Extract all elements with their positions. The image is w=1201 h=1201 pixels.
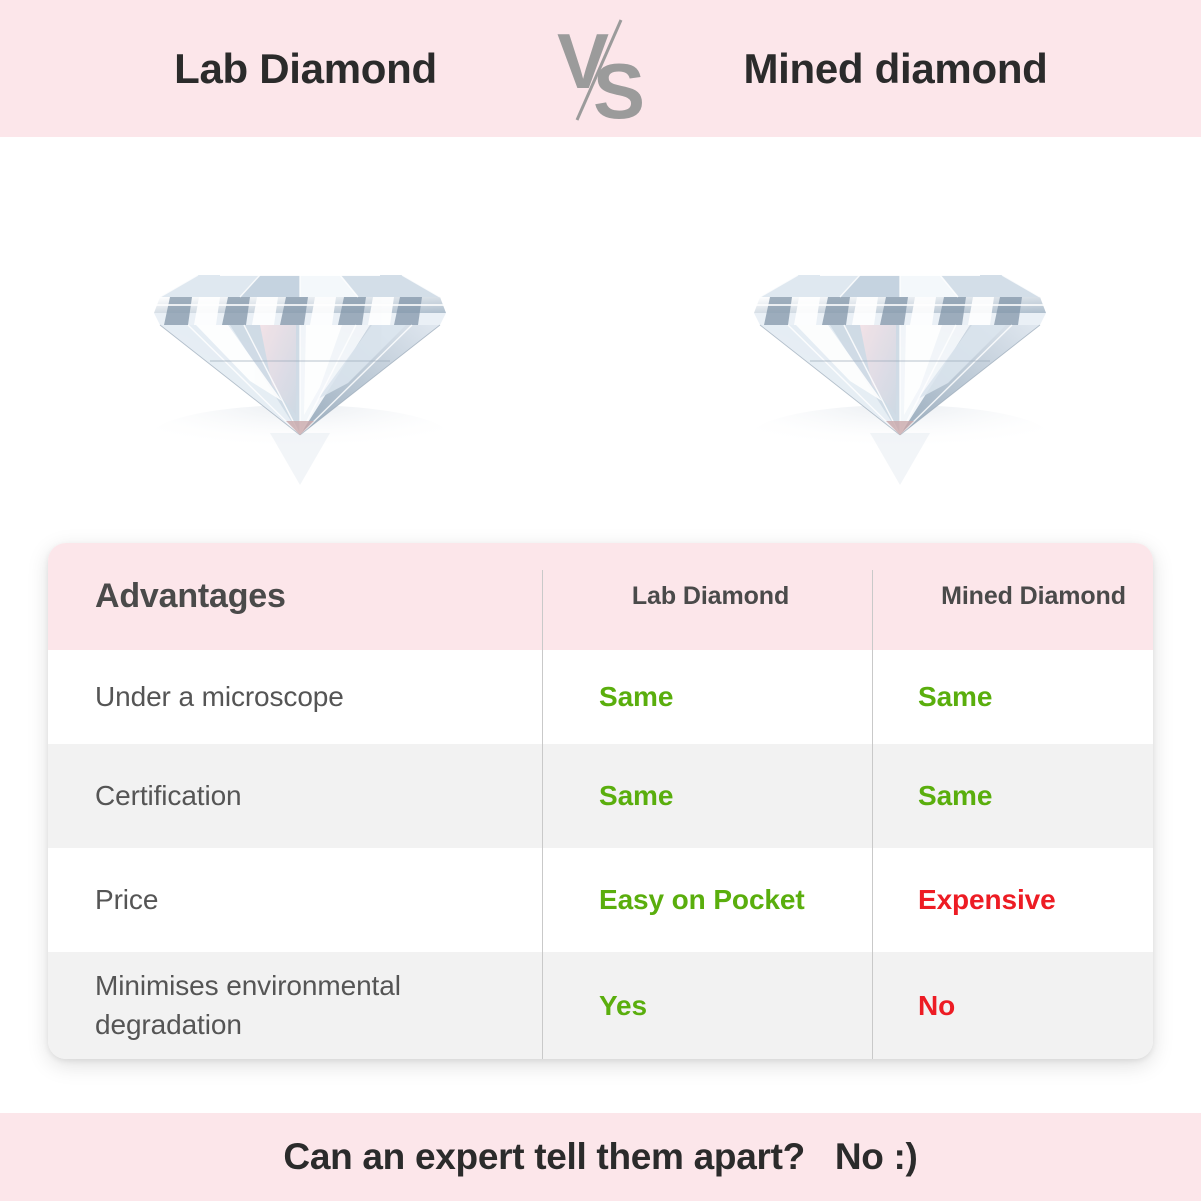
row-value-lab-cell: Easy on Pocket: [542, 848, 872, 952]
table-row: Minimises environmental degradation Yes …: [48, 952, 1153, 1059]
column-divider-1: [542, 650, 543, 744]
column-divider-1: [542, 952, 543, 1059]
column-divider-1: [542, 744, 543, 848]
header-band: Lab Diamond V S Mined diamond: [0, 0, 1201, 137]
row-value-mined: No: [918, 990, 955, 1022]
row-value-lab: Same: [599, 681, 673, 713]
row-label-cell: Price: [48, 848, 542, 952]
row-label-cell: Minimises environmental degradation: [48, 952, 542, 1059]
column-divider-2: [872, 570, 873, 650]
row-value-mined: Same: [918, 780, 992, 812]
row-value-mined: Same: [918, 681, 992, 713]
column-divider-2: [872, 952, 873, 1059]
row-label-cell: Under a microscope: [48, 650, 542, 744]
comparison-infographic: Lab Diamond V S Mined diamond: [0, 0, 1201, 1201]
header-cell-advantages: Advantages: [48, 577, 542, 616]
table-row: Price Easy on Pocket Expensive: [48, 848, 1153, 952]
row-value-mined-cell: No: [872, 952, 1153, 1059]
column-divider-2: [872, 650, 873, 744]
header-inner: Lab Diamond V S Mined diamond: [0, 14, 1201, 124]
footer-band: Can an expert tell them apart? No :): [0, 1113, 1201, 1201]
column-divider-2: [872, 744, 873, 848]
column-header-advantages: Advantages: [95, 577, 286, 616]
row-label: Price: [95, 881, 158, 920]
row-value-lab-cell: Same: [542, 744, 872, 848]
header-cell-lab: Lab Diamond: [542, 582, 872, 611]
row-value-mined-cell: Same: [872, 650, 1153, 744]
diamond-image-mined: [600, 137, 1200, 532]
row-value-mined: Expensive: [918, 884, 1056, 916]
table-row: Certification Same Same: [48, 744, 1153, 848]
row-label-cell: Certification: [48, 744, 542, 848]
header-title-lab: Lab Diamond: [71, 45, 541, 93]
table-row: Under a microscope Same Same: [48, 650, 1153, 744]
header-title-mined: Mined diamond: [661, 45, 1131, 93]
row-value-mined-cell: Expensive: [872, 848, 1153, 952]
vs-icon: V S: [541, 14, 661, 124]
diamond-images-row: [0, 137, 1201, 532]
svg-text:S: S: [593, 47, 645, 124]
row-value-mined-cell: Same: [872, 744, 1153, 848]
row-value-lab-cell: Yes: [542, 952, 872, 1059]
column-header-lab-diamond: Lab Diamond: [599, 582, 862, 611]
row-label: Minimises environmental degradation: [95, 967, 525, 1044]
header-cell-mined: Mined Diamond: [872, 582, 1153, 611]
table-header-row: Advantages Lab Diamond Mined Diamond: [48, 543, 1153, 650]
footer-question: Can an expert tell them apart? No :): [283, 1136, 917, 1178]
column-divider-1: [542, 848, 543, 952]
row-label: Under a microscope: [95, 678, 344, 717]
row-value-lab-cell: Same: [542, 650, 872, 744]
row-value-lab: Yes: [599, 990, 647, 1022]
row-value-lab: Easy on Pocket: [599, 884, 805, 916]
row-label: Certification: [95, 777, 242, 816]
column-header-mined-diamond: Mined Diamond: [918, 582, 1143, 611]
column-divider-2: [872, 848, 873, 952]
diamond-image-lab: [0, 137, 600, 532]
row-value-lab: Same: [599, 780, 673, 812]
comparison-table-card: Advantages Lab Diamond Mined Diamond Und…: [48, 543, 1153, 1059]
column-divider-1: [542, 570, 543, 650]
